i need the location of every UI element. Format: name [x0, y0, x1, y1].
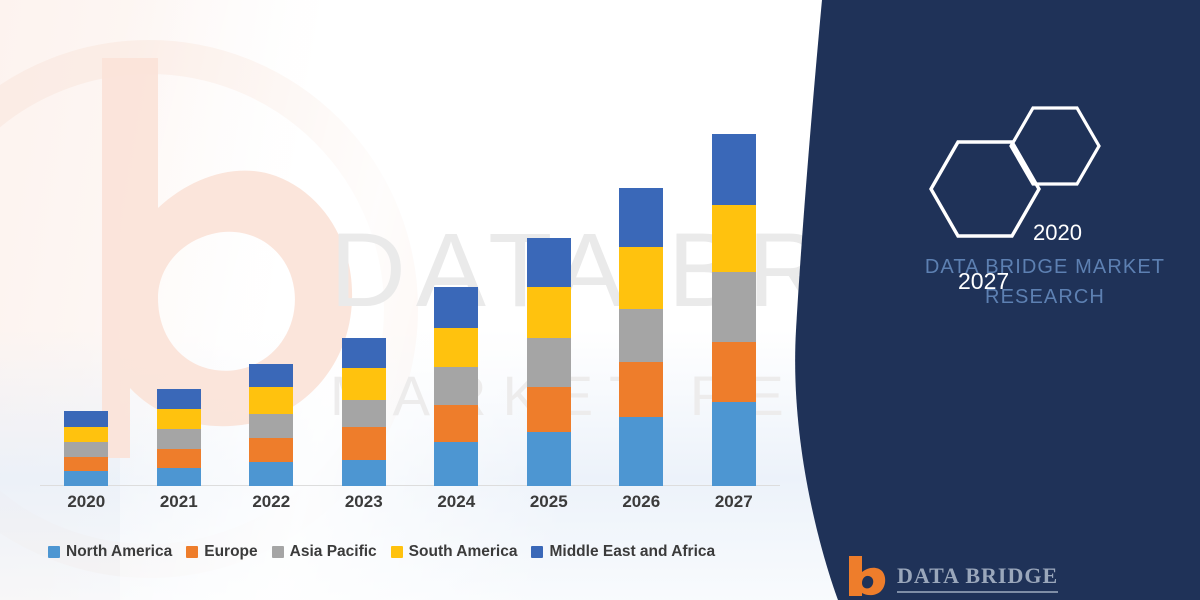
legend-swatch-icon [531, 546, 543, 558]
bar-segment [342, 427, 386, 460]
bar-segment [434, 367, 478, 405]
bar-segment [64, 442, 108, 457]
chart-legend: North AmericaEuropeAsia PacificSouth Ame… [48, 540, 788, 564]
legend-label: North America [66, 543, 172, 561]
x-tick-2020: 2020 [46, 492, 126, 512]
plot-area [40, 100, 780, 486]
bar-segment [712, 272, 756, 342]
bar-2024 [434, 287, 478, 486]
legend-item-3[interactable]: South America [391, 543, 518, 561]
legend-label: South America [409, 543, 518, 561]
bar-2026 [619, 188, 663, 486]
legend-item-1[interactable]: Europe [186, 543, 257, 561]
x-tick-2024: 2024 [416, 492, 496, 512]
bar-segment [434, 405, 478, 442]
legend-label: Middle East and Africa [549, 543, 715, 561]
bar-segment [434, 328, 478, 367]
brand-title-line-1: DATA BRIDGE MARKET [900, 252, 1190, 282]
bar-segment [249, 414, 293, 438]
bar-2022 [249, 364, 293, 486]
bar-segment [157, 449, 201, 468]
bar-segment [527, 238, 571, 287]
brand-title-line-2: RESEARCH [900, 282, 1190, 312]
bar-segment [434, 287, 478, 328]
bar-segment [64, 411, 108, 427]
legend-swatch-icon [48, 546, 60, 558]
bar-2027 [712, 134, 756, 486]
legend-label: Europe [204, 543, 257, 561]
legend-swatch-icon [391, 546, 403, 558]
bar-segment [712, 134, 756, 205]
bar-segment [64, 457, 108, 471]
data-bridge-logo-icon [845, 556, 887, 600]
bar-2023 [342, 338, 386, 486]
bar-segment [157, 468, 201, 486]
bar-segment [64, 471, 108, 486]
bar-segment [342, 400, 386, 427]
bar-segment [527, 338, 571, 387]
bar-segment [157, 389, 201, 409]
bar-segment [619, 188, 663, 247]
footer-logo: DATA BRIDGE [845, 556, 1058, 600]
bar-segment [619, 309, 663, 362]
bar-segment [712, 402, 756, 486]
bar-segment [342, 368, 386, 400]
bar-segment [527, 287, 571, 338]
bar-segment [157, 409, 201, 429]
bar-segment [157, 429, 201, 449]
bar-segment [342, 460, 386, 486]
legend-label: Asia Pacific [290, 543, 377, 561]
infographic-canvas: DATA BRIDGE MARKET RESEARCH 202020212022… [0, 0, 1200, 600]
bar-segment [249, 462, 293, 486]
bar-segment [342, 338, 386, 368]
legend-swatch-icon [272, 546, 284, 558]
bar-2020 [64, 411, 108, 486]
bar-segment [619, 247, 663, 309]
bar-segment [64, 427, 108, 442]
x-tick-2022: 2022 [231, 492, 311, 512]
bar-segment [434, 442, 478, 486]
bar-segment [249, 364, 293, 387]
bar-segment [249, 438, 293, 462]
legend-item-0[interactable]: North America [48, 543, 172, 561]
bar-2021 [157, 389, 201, 486]
stacked-bar-chart: 20202021202220232024202520262027 North A… [0, 0, 800, 600]
bar-segment [619, 417, 663, 486]
x-tick-2023: 2023 [324, 492, 404, 512]
x-axis-tick-labels: 20202021202220232024202520262027 [40, 492, 780, 522]
bar-segment [249, 387, 293, 414]
bar-segment [712, 205, 756, 272]
legend-item-2[interactable]: Asia Pacific [272, 543, 377, 561]
hexagon-badges: 2027 2020 [920, 100, 1120, 230]
bar-segment [712, 342, 756, 402]
x-tick-2021: 2021 [139, 492, 219, 512]
x-tick-2025: 2025 [509, 492, 589, 512]
footer-logo-text: DATA BRIDGE [897, 563, 1058, 593]
legend-swatch-icon [186, 546, 198, 558]
legend-item-4[interactable]: Middle East and Africa [531, 543, 715, 561]
brand-title: DATA BRIDGE MARKET RESEARCH [900, 252, 1190, 312]
bar-segment [619, 362, 663, 417]
x-tick-2026: 2026 [601, 492, 681, 512]
bar-segment [527, 432, 571, 486]
hexagon-label-start-year: 2020 [1033, 220, 1082, 246]
bar-segment [527, 387, 571, 432]
bar-2025 [527, 238, 571, 486]
